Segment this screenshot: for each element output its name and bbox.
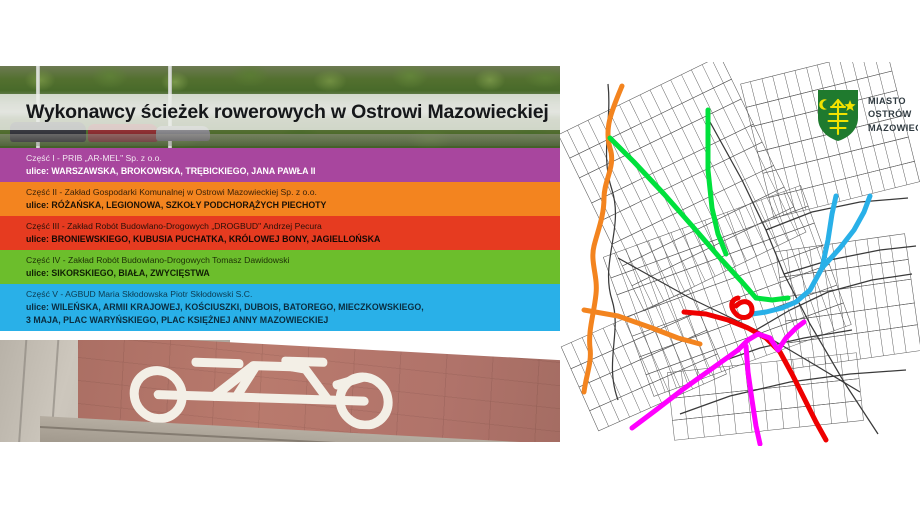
route-blue-tail[interactable] (752, 308, 782, 314)
route-green-spur[interactable] (756, 298, 788, 300)
paving-seam (17, 340, 28, 442)
logo-line-2: OSTRÓW (868, 108, 918, 122)
road-surface (0, 134, 560, 146)
contractor-company-name: Część II - Zakład Gospodarki Komunalnej … (26, 186, 560, 199)
contractor-company-name: Część V - AGBUD Maria Skłodowska Piotr S… (26, 288, 560, 301)
route-orange[interactable] (584, 86, 622, 392)
logo-line-1: MIASTO (868, 95, 918, 109)
contractor-band-czesc-i[interactable]: Część I - PRIB „AR-MEL" Sp. z o.o. ulice… (0, 148, 560, 182)
city-logo: MIASTO OSTRÓW MAZOWIEC (816, 86, 920, 144)
route-red-loop[interactable] (732, 298, 752, 317)
contractor-band-czesc-iii[interactable]: Część III - Zakład Robót Budowlano-Drogo… (0, 216, 560, 250)
poster-canvas: Wykonawcy ścieżek rowerowych w Ostrowi M… (0, 0, 920, 516)
contractor-street-list: ulice: SIKORSKIEGO, BIAŁA, ZWYCIĘSTWA (26, 267, 560, 280)
poster-title-strip: Wykonawcy ścieżek rowerowych w Ostrowi M… (0, 94, 560, 130)
contractor-band-czesc-iv[interactable]: Część IV - Zakład Robót Budowlano-Drogow… (0, 250, 560, 284)
route-green[interactable] (610, 138, 756, 298)
route-orange-branch[interactable] (584, 310, 700, 344)
contractor-street-list: ulice: RÓŻAŃSKA, LEGIONOWA, SZKOŁY PODCH… (26, 199, 560, 212)
page-title: Wykonawcy ścieżek rowerowych w Ostrowi M… (26, 101, 549, 124)
logo-line-3: MAZOWIEC (868, 122, 918, 136)
contractor-street-list-line2: 3 MAJA, PLAC WARYŃSKIEGO, PLAC KSIĘŻNEJ … (26, 314, 560, 327)
bicycle-pictogram-icon (95, 349, 436, 432)
contractor-company-name: Część III - Zakład Robót Budowlano-Drogo… (26, 220, 560, 233)
contractor-band-czesc-ii[interactable]: Część II - Zakład Gospodarki Komunalnej … (0, 182, 560, 216)
route-green-branch[interactable] (708, 110, 726, 254)
header-photo: Wykonawcy ścieżek rowerowych w Ostrowi M… (0, 66, 560, 148)
contractor-company-name: Część I - PRIB „AR-MEL" Sp. z o.o. (26, 152, 560, 165)
contractor-street-list: ulice: BRONIEWSKIEGO, KUBUSIA PUCHATKA, … (26, 233, 560, 246)
contractor-street-list: ulice: WILEŃSKA, ARMII KRAJOWEJ, KOŚCIUS… (26, 301, 560, 314)
coat-of-arms-icon (816, 88, 860, 142)
contractor-street-list: ulice: WARSZAWSKA, BROKOWSKA, TRĘBICKIEG… (26, 165, 560, 178)
contractor-band-list: Część I - PRIB „AR-MEL" Sp. z o.o. ulice… (0, 148, 560, 331)
bicycle-contractors-poster: Wykonawcy ścieżek rowerowych w Ostrowi M… (0, 66, 560, 442)
contractor-company-name: Część IV - Zakład Robót Budowlano-Drogow… (26, 254, 560, 267)
city-logo-text: MIASTO OSTRÓW MAZOWIEC (868, 95, 918, 136)
contractor-band-czesc-v[interactable]: Część V - AGBUD Maria Skłodowska Piotr S… (0, 284, 560, 331)
route-magenta-sw[interactable] (632, 350, 738, 428)
bicycle-lane-photo (0, 340, 560, 442)
